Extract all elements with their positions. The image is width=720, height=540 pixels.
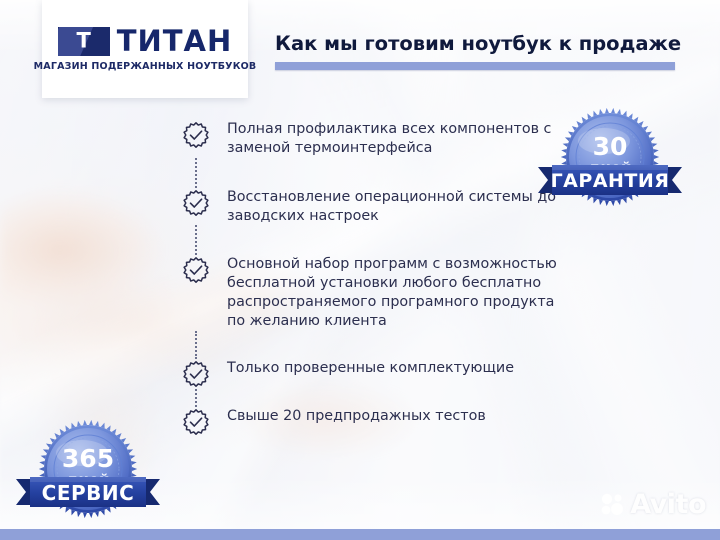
avito-watermark: Avito (600, 491, 706, 518)
titan-square-t-icon: Т (58, 27, 110, 56)
process-timeline: Полная профилактика всех компонентов с з… (181, 120, 581, 437)
timeline-connector (181, 331, 581, 359)
timeline-connector (181, 158, 581, 188)
timeline-item-label: Восстановление операционной системы до з… (227, 188, 557, 226)
guarantee-ribbon-label: ГАРАНТИЯ (551, 170, 670, 192)
timeline-item: Только проверенные комплектующие (181, 359, 581, 389)
check-seal-icon (181, 255, 211, 285)
timeline-connector (181, 225, 581, 255)
guarantee-number: 30 (593, 132, 628, 161)
guarantee-seal-icon: 30 дней ГАРАНТИЯ (536, 107, 684, 211)
timeline-item-label: Полная профилактика всех компонентов с з… (227, 120, 557, 158)
service-ribbon-label: СЕРВИС (42, 481, 135, 505)
promo-slide: Т ТИТАН МАГАЗИН ПОДЕРЖАННЫХ НОУТБУКОВ Ка… (0, 0, 720, 540)
title-underline-bar (275, 62, 675, 70)
timeline-item: Свыше 20 предпродажных тестов (181, 407, 581, 437)
check-seal-icon (181, 359, 211, 389)
logo-row: Т ТИТАН (58, 27, 233, 56)
check-seal-icon (181, 407, 211, 437)
service-seal-icon: 365 дней СЕРВИС (14, 419, 162, 523)
bottom-accent-bar (0, 529, 720, 540)
brand-logo-card: Т ТИТАН МАГАЗИН ПОДЕРЖАННЫХ НОУТБУКОВ (42, 0, 248, 98)
timeline-item-label: Только проверенные комплектующие (227, 359, 514, 378)
avito-dots-icon (600, 493, 626, 517)
service-number: 365 (62, 444, 114, 473)
timeline-item-label: Основной набор программ с возможностью б… (227, 255, 557, 330)
logo-mark-letter: Т (77, 31, 91, 52)
timeline-connector (181, 389, 581, 407)
check-seal-icon (181, 120, 211, 150)
check-seal-icon (181, 188, 211, 218)
page-title-block: Как мы готовим ноутбук к продаже (275, 33, 680, 70)
page-title: Как мы готовим ноутбук к продаже (275, 33, 680, 54)
timeline-item-label: Свыше 20 предпродажных тестов (227, 407, 486, 426)
logo-wordmark: ТИТАН (117, 27, 233, 56)
logo-tagline: МАГАЗИН ПОДЕРЖАННЫХ НОУТБУКОВ (34, 61, 257, 72)
timeline-item: Основной набор программ с возможностью б… (181, 255, 581, 330)
avito-wordmark: Avito (630, 491, 706, 518)
timeline-item: Восстановление операционной системы до з… (181, 188, 581, 226)
timeline-item: Полная профилактика всех компонентов с з… (181, 120, 581, 158)
